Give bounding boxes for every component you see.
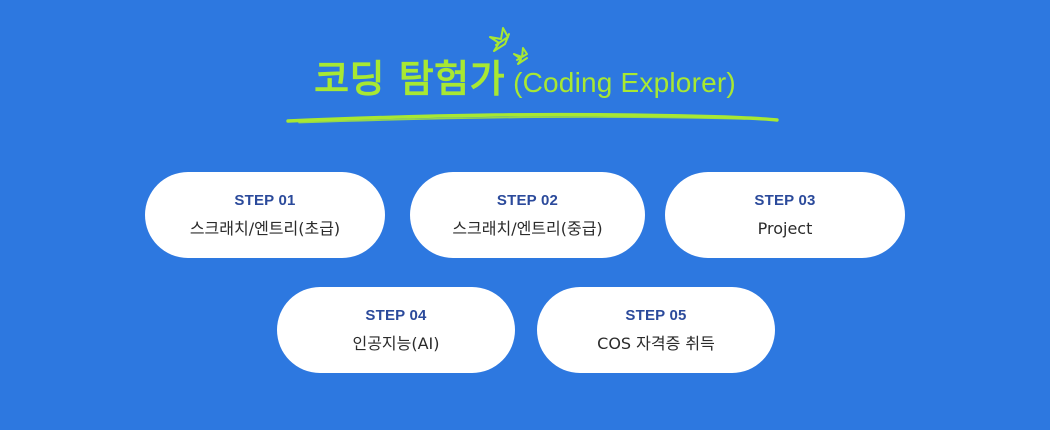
step-label: STEP 02 [497,192,558,210]
step-label: STEP 04 [365,307,426,325]
step-description: COS 자격증 취득 [597,334,715,353]
step-card-01[interactable]: STEP 01 스크래치/엔트리(초급) [145,172,385,258]
step-description: 스크래치/엔트리(초급) [190,219,340,238]
step-description: Project [758,219,813,238]
banner-header: 코딩 탐험가(Coding Explorer) [0,0,1050,150]
banner-title: 코딩 탐험가(Coding Explorer) [0,60,1050,98]
step-card-02[interactable]: STEP 02 스크래치/엔트리(중급) [410,172,645,258]
step-label: STEP 03 [754,192,815,210]
step-card-03[interactable]: STEP 03 Project [665,172,905,258]
title-korean: 코딩 탐험가 [314,57,505,101]
hand-drawn-underline-icon [285,110,780,126]
step-label: STEP 05 [625,307,686,325]
step-description: 인공지능(AI) [352,334,439,353]
step-card-05[interactable]: STEP 05 COS 자격증 취득 [537,287,775,373]
step-card-04[interactable]: STEP 04 인공지능(AI) [277,287,515,373]
title-english: (Coding Explorer) [513,67,736,98]
step-description: 스크래치/엔트리(중급) [452,219,602,238]
step-label: STEP 01 [234,192,295,210]
promo-banner: 코딩 탐험가(Coding Explorer) STEP 01 스크래치/엔트리… [0,0,1050,430]
